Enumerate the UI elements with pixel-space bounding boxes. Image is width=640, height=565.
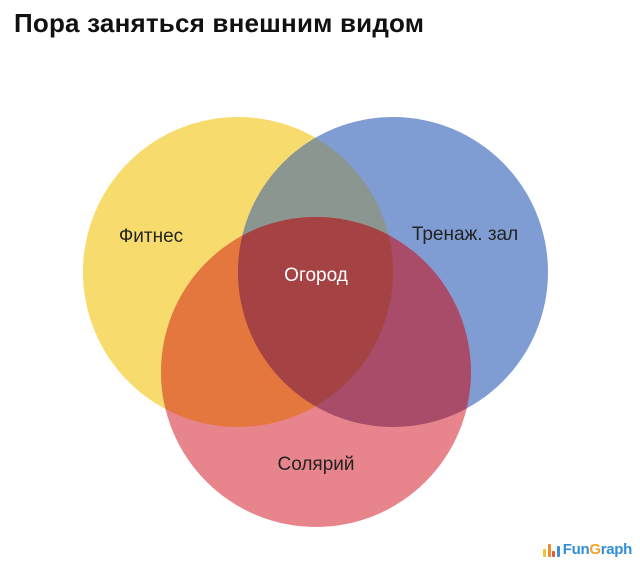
venn-chart-root: Пора заняться внешним видом bbox=[0, 0, 640, 565]
logo-word-fun: Fun bbox=[563, 541, 590, 558]
logo-bar-yellow bbox=[543, 549, 546, 557]
logo-bar-blue bbox=[557, 546, 560, 557]
logo-word-g: G bbox=[589, 541, 600, 558]
fungraph-logo[interactable]: FunGraph bbox=[543, 535, 632, 557]
logo-bar-orange bbox=[548, 544, 551, 557]
logo-bar-red bbox=[552, 551, 555, 557]
venn-svg bbox=[0, 0, 640, 565]
logo-word-raph: raph bbox=[601, 541, 632, 558]
logo-wordmark: FunGraph bbox=[563, 542, 632, 557]
venn-diagram: Фитнес Тренаж. зал Огород Солярий bbox=[0, 0, 640, 565]
bar-chart-icon bbox=[543, 542, 560, 557]
